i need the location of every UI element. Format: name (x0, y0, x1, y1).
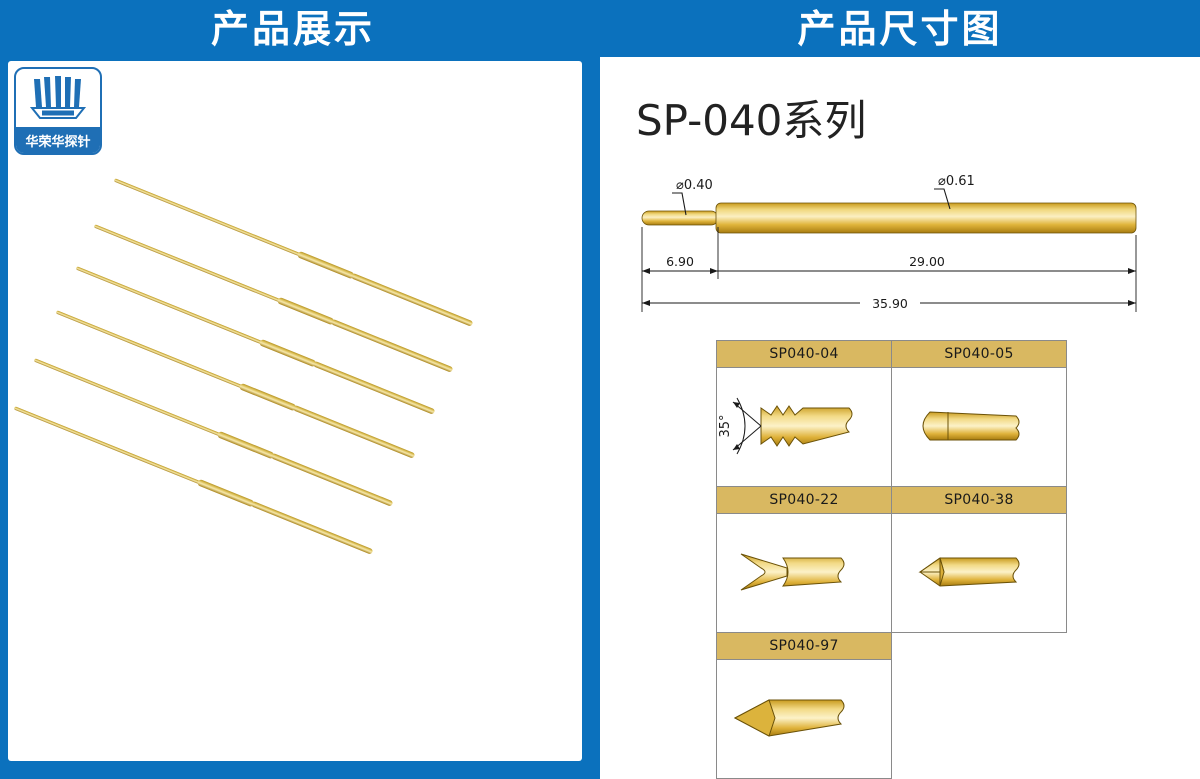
chisel-double-bevel-tip-icon (892, 514, 1068, 632)
product-photo: 华荣华探针 (8, 61, 582, 761)
crown-4-point-tip-icon: 35° (717, 368, 893, 486)
variant-code: SP040-38 (892, 487, 1066, 514)
variant-tip-figure (892, 514, 1066, 632)
product-photo-frame: 华荣华探针 (0, 57, 586, 779)
spec-panel: SP-040系列 ⌀0.40 (600, 57, 1200, 779)
table-row: SP040-04 (716, 340, 1068, 486)
product-spec-page: 产品展示 产品尺寸图 (0, 0, 1200, 779)
variant-code: SP040-97 (717, 633, 891, 660)
tip-angle-label: 35° (718, 414, 733, 437)
variant-cell-sp040-05[interactable]: SP040-05 (891, 340, 1067, 487)
angle-annotation (733, 398, 761, 454)
concave-fork-tip-icon (717, 514, 893, 632)
probe-body (642, 203, 1136, 233)
variant-cell-sp040-97[interactable]: SP040-97 (716, 632, 892, 779)
variant-code: SP040-05 (892, 341, 1066, 368)
variant-tip-figure (717, 514, 891, 632)
dim-value-barrel: 29.00 (909, 254, 945, 269)
logo-brand-text: 华荣华探针 (16, 127, 100, 153)
variant-cell-sp040-38[interactable]: SP040-38 (891, 486, 1067, 633)
panel-divider (586, 0, 600, 779)
variant-cell-sp040-04[interactable]: SP040-04 (716, 340, 892, 487)
dimension-drawing: ⌀0.40 ⌀0.61 6.90 29.00 (620, 167, 1180, 367)
dim-value-overall: 35.90 (872, 296, 908, 311)
variant-cell-sp040-22[interactable]: SP040-22 (716, 486, 892, 633)
table-row: SP040-22 SP040-38 (716, 486, 1068, 632)
diameter-callout-barrel: ⌀0.61 (938, 174, 975, 189)
table-row: SP040-97 (716, 632, 1068, 778)
brand-logo: 华荣华探针 (14, 67, 102, 155)
right-panel-header: 产品尺寸图 (600, 0, 1200, 57)
variant-cell-empty (891, 632, 1067, 779)
dim-value-plunger: 6.90 (666, 254, 694, 269)
variant-code: SP040-22 (717, 487, 891, 514)
left-header-title: 产品展示 (211, 10, 375, 48)
sharp-spear-tip-icon (717, 660, 893, 778)
probe-pins-image (8, 61, 582, 761)
diameter-callout-plunger: ⌀0.40 (676, 178, 713, 193)
series-title: SP-040系列 (636, 87, 866, 148)
variant-tip-figure (717, 660, 891, 778)
crown-logo-mark (16, 71, 100, 123)
variant-tip-figure (892, 368, 1066, 486)
right-header-title: 产品尺寸图 (797, 10, 1002, 48)
left-panel-header: 产品展示 (0, 0, 586, 57)
variants-table: SP040-04 (716, 340, 1068, 778)
round-flat-tip-icon (892, 368, 1068, 486)
variant-code: SP040-04 (717, 341, 891, 368)
variant-tip-figure: 35° (717, 368, 891, 486)
